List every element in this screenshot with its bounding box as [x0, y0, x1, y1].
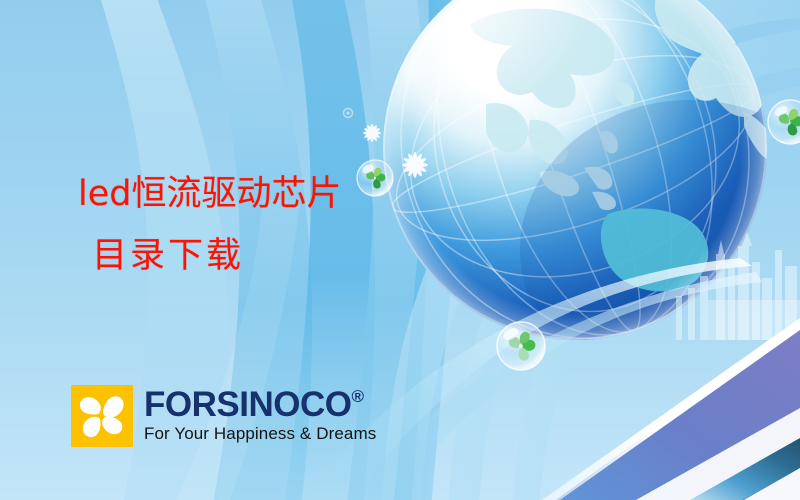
logo-text-block: FORSINOCO® For Your Happiness & Dreams — [144, 386, 376, 444]
headline-line-1: led恒流驱动芯片 — [78, 163, 408, 225]
logo-tagline: For Your Happiness & Dreams — [144, 424, 376, 444]
headline-block: led恒流驱动芯片 目录下载 — [78, 163, 408, 287]
pinwheel-flower-icon — [71, 385, 133, 447]
headline-line-2: 目录下载 — [78, 225, 408, 287]
bubble-pinwheel-2 — [497, 322, 545, 370]
led-driver-catalog-banner: led恒流驱动芯片 目录下载 FORSINOCO® — [0, 0, 800, 500]
bubble-pinwheel-3 — [768, 100, 800, 144]
registered-trademark-icon: ® — [351, 387, 363, 406]
forsinoco-logo[interactable]: FORSINOCO® For Your Happiness & Dreams — [71, 385, 376, 447]
logo-wordmark-text: FORSINOCO — [144, 385, 351, 424]
logo-wordmark: FORSINOCO® — [144, 386, 376, 423]
